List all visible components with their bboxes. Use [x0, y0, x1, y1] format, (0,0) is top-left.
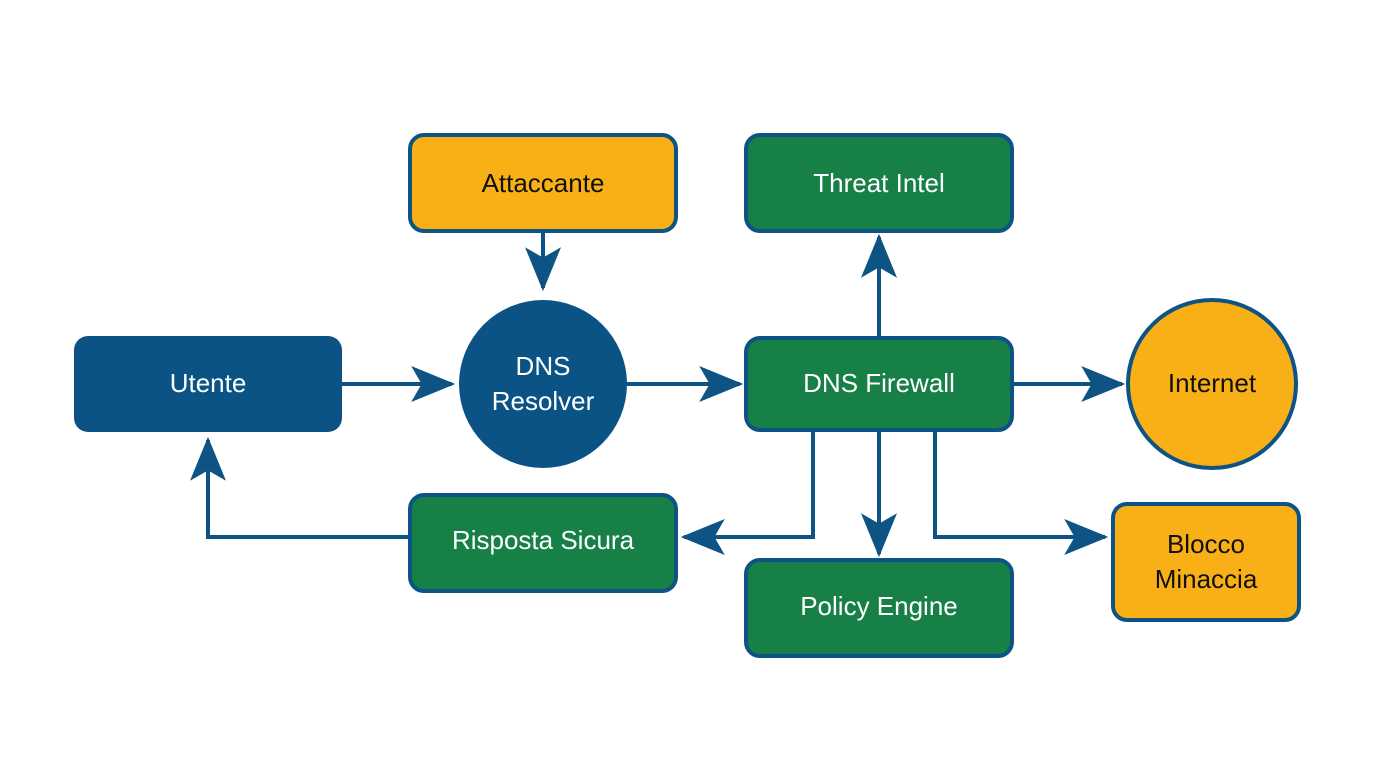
dns-resolver-label-line1: DNS — [516, 351, 571, 381]
node-utente[interactable]: Utente — [74, 336, 342, 432]
blocco-minaccia-label-line1: Blocco — [1167, 529, 1245, 559]
node-threat-intel[interactable]: Threat Intel — [746, 135, 1012, 231]
risposta-sicura-label: Risposta Sicura — [452, 525, 635, 555]
edge-dns-firewall-to-risposta-sicura — [684, 430, 813, 537]
utente-label: Utente — [170, 368, 247, 398]
blocco-minaccia-shape[interactable] — [1113, 504, 1299, 620]
blocco-minaccia-label-line2: Minaccia — [1155, 564, 1258, 594]
edge-risposta-sicura-to-utente — [208, 440, 410, 537]
node-policy-engine[interactable]: Policy Engine — [746, 560, 1012, 656]
node-attaccante[interactable]: Attaccante — [410, 135, 676, 231]
node-internet[interactable]: Internet — [1128, 300, 1296, 468]
policy-engine-label: Policy Engine — [800, 591, 958, 621]
internet-label: Internet — [1168, 368, 1257, 398]
dns-resolver-shape[interactable] — [459, 300, 627, 468]
flow-diagram: Attaccante Threat Intel Utente DNS Resol… — [0, 0, 1376, 768]
attaccante-label: Attaccante — [482, 168, 605, 198]
edge-dns-firewall-to-blocco-minaccia — [935, 430, 1105, 537]
threat-intel-label: Threat Intel — [813, 168, 945, 198]
node-risposta-sicura[interactable]: Risposta Sicura — [410, 495, 676, 591]
node-dns-resolver[interactable]: DNS Resolver — [459, 300, 627, 468]
diagram-canvas: Attaccante Threat Intel Utente DNS Resol… — [0, 0, 1376, 768]
dns-resolver-label-line2: Resolver — [492, 386, 595, 416]
dns-firewall-label: DNS Firewall — [803, 368, 955, 398]
node-dns-firewall[interactable]: DNS Firewall — [746, 338, 1012, 430]
node-blocco-minaccia[interactable]: Blocco Minaccia — [1113, 504, 1299, 620]
